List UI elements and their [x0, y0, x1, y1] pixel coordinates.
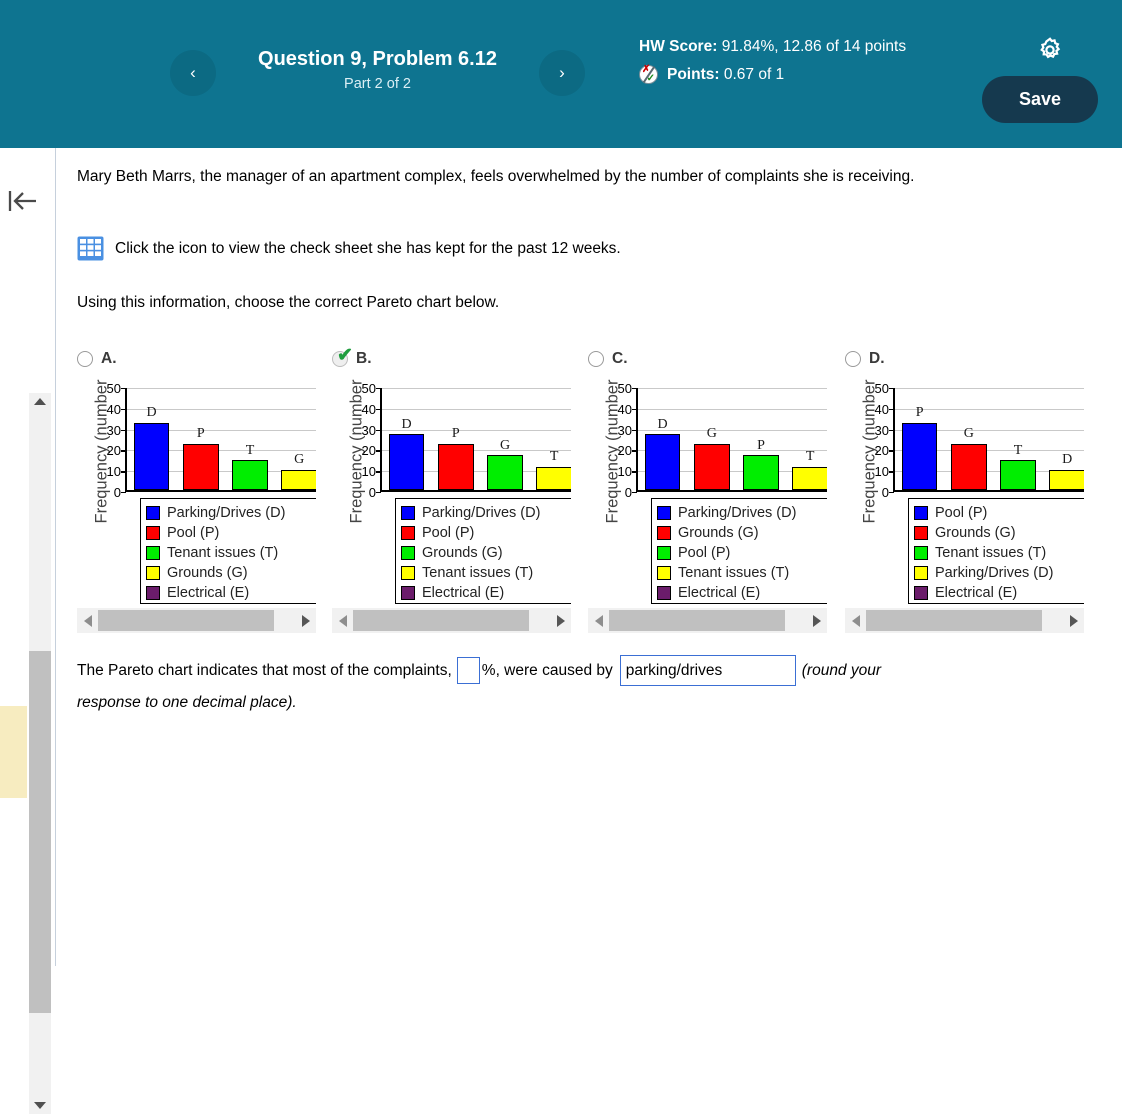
points-row: Points: 0.67 of 1: [639, 65, 969, 84]
radio-c[interactable]: [588, 351, 604, 367]
bar: [487, 455, 522, 490]
legend-item: Electrical (E): [146, 583, 314, 603]
y-tick-label: 30: [865, 424, 889, 437]
legend-item: Electrical (E): [657, 583, 825, 603]
y-tick-label: 10: [352, 465, 376, 478]
gridline: [636, 388, 827, 389]
y-tick-label: 0: [608, 486, 632, 499]
legend-item: Tenant issues (T): [146, 543, 314, 563]
legend-label: Pool (P): [678, 545, 730, 561]
legend-swatch: [914, 586, 928, 600]
bar: [743, 455, 778, 490]
save-button[interactable]: Save: [982, 76, 1098, 123]
legend-label: Tenant issues (T): [678, 565, 789, 581]
percent-input[interactable]: [457, 657, 480, 684]
y-tick-label: 0: [97, 486, 121, 499]
bar-category-label: D: [136, 405, 168, 421]
bar-category-label: G: [489, 438, 521, 454]
horizontal-scrollbar-thumb[interactable]: [353, 610, 529, 631]
legend-swatch: [146, 526, 160, 540]
table-icon[interactable]: [77, 236, 104, 261]
y-tick-label: 30: [352, 424, 376, 437]
progress-marker: [0, 706, 27, 798]
bar-category-label: D: [647, 417, 679, 433]
bar: [951, 444, 986, 491]
question-part-label: Part 2 of 2: [225, 73, 530, 95]
check-sheet-instruction: Click the icon to view the check sheet s…: [115, 240, 621, 258]
vertical-scrollbar[interactable]: [29, 393, 51, 1114]
bar: [134, 423, 169, 491]
legend-label: Parking/Drives (D): [678, 505, 796, 521]
pareto-chart-b: Frequency (number01020304050DPGTEParking…: [332, 370, 571, 606]
bar: [232, 460, 267, 490]
y-tick-label: 0: [865, 486, 889, 499]
scroll-right-arrow-icon[interactable]: [806, 608, 827, 633]
gridline: [125, 388, 316, 389]
partial-credit-icon: [639, 65, 658, 84]
legend-label: Grounds (G): [678, 525, 759, 541]
next-question-button[interactable]: ›: [539, 50, 585, 96]
legend-item: Parking/Drives (D): [657, 503, 825, 523]
legend-label: Tenant issues (T): [935, 545, 1046, 561]
bar: [438, 444, 473, 491]
bar: [536, 467, 571, 491]
y-tick-label: 30: [97, 424, 121, 437]
scroll-up-arrow-icon[interactable]: [29, 393, 51, 410]
legend-item: Pool (P): [146, 523, 314, 543]
hw-score-value: 91.84%, 12.86 of 14 points: [722, 38, 906, 55]
bar: [1000, 460, 1035, 490]
selected-check-icon: ✔: [337, 346, 353, 365]
bar-category-label: G: [953, 426, 985, 442]
plot-area: 01020304050DGPTE: [636, 388, 827, 492]
y-tick-label: 10: [608, 465, 632, 478]
legend-swatch: [914, 566, 928, 580]
y-tick-label: 0: [352, 486, 376, 499]
y-tick-label: 50: [97, 382, 121, 395]
y-tick-mark: [632, 492, 637, 493]
legend-label: Electrical (E): [935, 585, 1017, 601]
legend-label: Grounds (G): [167, 565, 248, 581]
legend-swatch: [914, 546, 928, 560]
legend-swatch: [401, 546, 415, 560]
legend-label: Electrical (E): [422, 585, 504, 601]
legend-label: Tenant issues (T): [167, 545, 278, 561]
y-tick-mark: [889, 492, 894, 493]
horizontal-scrollbar-thumb[interactable]: [866, 610, 1042, 631]
legend-item: Grounds (G): [657, 523, 825, 543]
pareto-chart-d: Frequency (number01020304050PGTDEPool (P…: [845, 370, 1084, 606]
y-tick-label: 50: [352, 382, 376, 395]
y-axis-line: [125, 388, 127, 492]
legend-swatch: [401, 586, 415, 600]
pareto-chart-a: Frequency (number01020304050DPTGEParking…: [77, 370, 316, 606]
scroll-left-arrow-icon[interactable]: [77, 608, 98, 633]
plot-area: 01020304050DPGTE: [380, 388, 571, 492]
choice-letter: A.: [101, 350, 117, 368]
bar: [281, 470, 316, 491]
hw-score: HW Score: 91.84%, 12.86 of 14 points: [639, 36, 969, 58]
bar: [1049, 470, 1084, 491]
legend-label: Electrical (E): [678, 585, 760, 601]
radio-d[interactable]: [845, 351, 861, 367]
radio-b[interactable]: ✔: [332, 351, 348, 367]
plot-area: 01020304050PGTDE: [893, 388, 1084, 492]
legend-label: Parking/Drives (D): [167, 505, 285, 521]
legend-item: Grounds (G): [146, 563, 314, 583]
question-paragraph-1: Mary Beth Marrs, the manager of an apart…: [77, 165, 1062, 189]
bar-category-label: T: [794, 449, 826, 465]
scroll-right-arrow-icon[interactable]: [295, 608, 316, 633]
legend-label: Pool (P): [167, 525, 219, 541]
legend-item: Grounds (G): [914, 523, 1082, 543]
bar-category-label: T: [538, 449, 570, 465]
scroll-left-arrow-icon[interactable]: [588, 608, 609, 633]
legend-swatch: [146, 506, 160, 520]
legend-swatch: [657, 566, 671, 580]
plot-area: 01020304050DPTGE: [125, 388, 316, 492]
scroll-right-arrow-icon[interactable]: [550, 608, 571, 633]
x-axis-line: [893, 490, 1084, 492]
y-axis-line: [636, 388, 638, 492]
y-tick-label: 40: [608, 403, 632, 416]
legend-swatch: [657, 546, 671, 560]
legend-swatch: [401, 526, 415, 540]
radio-a[interactable]: [77, 351, 93, 367]
hw-score-label: HW Score:: [639, 38, 717, 55]
legend-swatch: [401, 506, 415, 520]
legend-item: Parking/Drives (D): [914, 563, 1082, 583]
y-tick-label: 40: [352, 403, 376, 416]
y-tick-label: 20: [97, 444, 121, 457]
previous-question-button[interactable]: ‹: [170, 50, 216, 96]
legend-item: Grounds (G): [401, 543, 569, 563]
x-axis-line: [380, 490, 571, 492]
legend-swatch: [914, 526, 928, 540]
legend-item: Pool (P): [657, 543, 825, 563]
y-tick-label: 20: [865, 444, 889, 457]
chart-legend: Parking/Drives (D)Pool (P)Tenant issues …: [140, 498, 316, 604]
legend-label: Grounds (G): [422, 545, 503, 561]
chart-horizontal-scrollbar[interactable]: [332, 608, 571, 633]
page-title: Question 9, Problem 6.12: [225, 45, 530, 73]
y-axis-line: [893, 388, 895, 492]
y-tick-label: 40: [97, 403, 121, 416]
gridline: [380, 409, 571, 410]
chart-legend: Pool (P)Grounds (G)Tenant issues (T)Park…: [908, 498, 1084, 604]
legend-label: Electrical (E): [167, 585, 249, 601]
answer-prefix-text: The Pareto chart indicates that most of …: [77, 656, 452, 686]
y-tick-label: 50: [608, 382, 632, 395]
collapse-panel-icon[interactable]: [6, 186, 40, 216]
bar-category-label: P: [185, 426, 217, 442]
scroll-down-arrow-icon[interactable]: [29, 1097, 51, 1114]
y-tick-label: 10: [97, 465, 121, 478]
legend-label: Pool (P): [935, 505, 987, 521]
y-tick-label: 20: [608, 444, 632, 457]
legend-item: Tenant issues (T): [657, 563, 825, 583]
pareto-chart-c: Frequency (number01020304050DGPTEParking…: [588, 370, 827, 606]
gridline: [893, 388, 1084, 389]
left-rail: [0, 148, 56, 966]
legend-swatch: [657, 526, 671, 540]
legend-item: Pool (P): [401, 523, 569, 543]
x-axis-line: [636, 490, 827, 492]
answer-middle-text: %, were caused by: [482, 656, 613, 686]
bar: [389, 434, 424, 490]
points-value: 0.67 of 1: [724, 66, 784, 83]
legend-item: Electrical (E): [401, 583, 569, 603]
bar: [645, 434, 680, 490]
bar-category-label: P: [440, 426, 472, 442]
legend-item: Tenant issues (T): [914, 543, 1082, 563]
legend-item: Parking/Drives (D): [401, 503, 569, 523]
question-content: Mary Beth Marrs, the manager of an apart…: [56, 148, 1122, 966]
bar-category-label: P: [745, 438, 777, 454]
answer-line-1: The Pareto chart indicates that most of …: [77, 655, 1077, 686]
chart-horizontal-scrollbar[interactable]: [845, 608, 1084, 633]
legend-item: Tenant issues (T): [401, 563, 569, 583]
cause-input[interactable]: [620, 655, 796, 686]
bar-category-label: G: [696, 426, 728, 442]
legend-swatch: [146, 586, 160, 600]
y-axis-line: [380, 388, 382, 492]
legend-label: Tenant issues (T): [422, 565, 533, 581]
bar: [902, 423, 937, 491]
choice-letter: C.: [612, 350, 628, 368]
choice-header-b: ✔B.: [332, 348, 372, 370]
horizontal-scrollbar-thumb[interactable]: [609, 610, 785, 631]
x-axis-line: [125, 490, 316, 492]
score-block: HW Score: 91.84%, 12.86 of 14 points Poi…: [639, 36, 969, 84]
question-paragraph-3: Using this information, choose the corre…: [77, 291, 1062, 315]
bar-category-label: D: [391, 417, 423, 433]
y-tick-label: 50: [865, 382, 889, 395]
bar-category-label: D: [1051, 452, 1083, 468]
legend-label: Pool (P): [422, 525, 474, 541]
choice-header-a: A.: [77, 348, 117, 370]
question-title-block: Question 9, Problem 6.12 Part 2 of 2: [225, 45, 530, 95]
bar-category-label: T: [1002, 443, 1034, 459]
y-tick-label: 40: [865, 403, 889, 416]
legend-swatch: [401, 566, 415, 580]
vertical-scrollbar-thumb[interactable]: [29, 651, 51, 1013]
legend-label: Parking/Drives (D): [422, 505, 540, 521]
choice-header-d: D.: [845, 348, 885, 370]
bar: [792, 467, 827, 491]
scroll-left-arrow-icon[interactable]: [845, 608, 866, 633]
choice-letter: D.: [869, 350, 885, 368]
app-header: ‹ Question 9, Problem 6.12 Part 2 of 2 ›…: [0, 0, 1122, 148]
points-text: Points: 0.67 of 1: [667, 66, 784, 84]
answer-block: The Pareto chart indicates that most of …: [77, 655, 1077, 718]
bar-category-label: G: [283, 452, 315, 468]
y-tick-label: 10: [865, 465, 889, 478]
bar-category-label: T: [234, 443, 266, 459]
choice-letter: B.: [356, 350, 372, 368]
legend-label: Parking/Drives (D): [935, 565, 1053, 581]
legend-item: Parking/Drives (D): [146, 503, 314, 523]
y-tick-label: 30: [608, 424, 632, 437]
answer-hint-part-1: (round your: [802, 656, 881, 686]
bar: [694, 444, 729, 491]
legend-swatch: [914, 506, 928, 520]
legend-item: Electrical (E): [914, 583, 1082, 603]
scroll-left-arrow-icon[interactable]: [332, 608, 353, 633]
chart-legend: Parking/Drives (D)Pool (P)Grounds (G)Ten…: [395, 498, 571, 604]
horizontal-scrollbar-thumb[interactable]: [98, 610, 274, 631]
answer-hint-part-2: response to one decimal place).: [77, 688, 1077, 718]
y-tick-label: 20: [352, 444, 376, 457]
choice-header-c: C.: [588, 348, 628, 370]
gear-icon[interactable]: [1036, 36, 1064, 64]
gridline: [380, 388, 571, 389]
gridline: [636, 409, 827, 410]
chart-horizontal-scrollbar[interactable]: [588, 608, 827, 633]
legend-item: Pool (P): [914, 503, 1082, 523]
legend-swatch: [146, 566, 160, 580]
legend-swatch: [146, 546, 160, 560]
scroll-right-arrow-icon[interactable]: [1063, 608, 1084, 633]
chart-legend: Parking/Drives (D)Grounds (G)Pool (P)Ten…: [651, 498, 827, 604]
y-tick-mark: [121, 492, 126, 493]
legend-label: Grounds (G): [935, 525, 1016, 541]
legend-swatch: [657, 506, 671, 520]
points-label: Points:: [667, 66, 720, 83]
chart-horizontal-scrollbar[interactable]: [77, 608, 316, 633]
y-tick-mark: [376, 492, 381, 493]
legend-swatch: [657, 586, 671, 600]
bar: [183, 444, 218, 491]
bar-category-label: P: [904, 405, 936, 421]
check-sheet-row: Click the icon to view the check sheet s…: [77, 236, 621, 261]
